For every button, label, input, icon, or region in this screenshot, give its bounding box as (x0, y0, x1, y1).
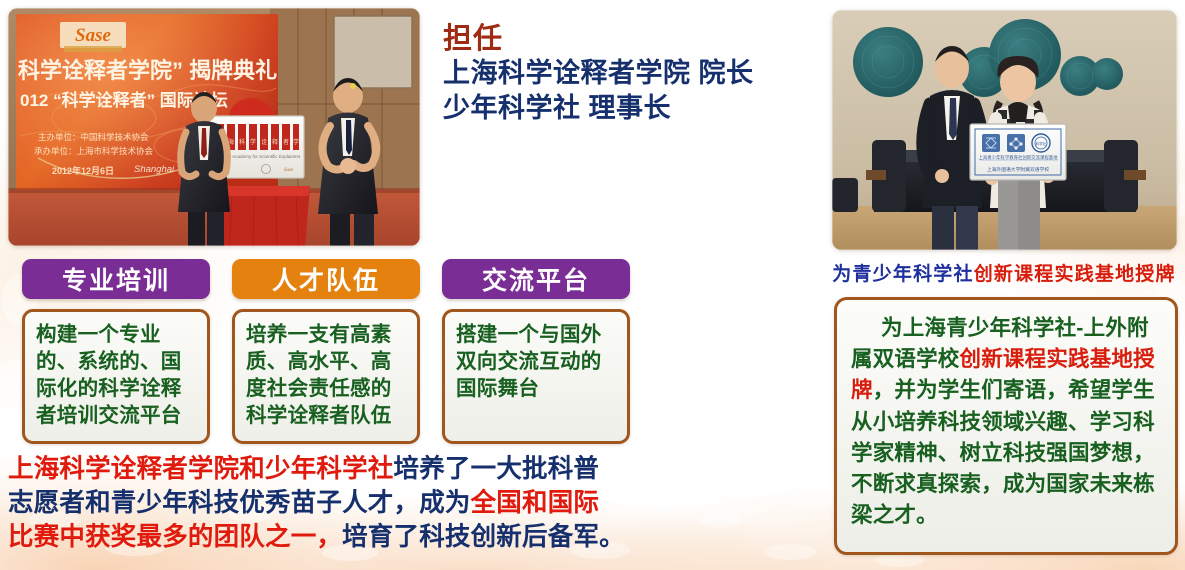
svg-text:主办单位：中国科学技术协会: 主办单位：中国科学技术协会 (38, 132, 149, 142)
card-row: 构建一个专业的、系统的、国际化的科学诠释者培训交流平台 培养一支有高素质、高水平… (22, 309, 630, 444)
right-text-seg3: ，并为学生们寄语，希望学生从小培养科技领域兴趣、学习科学家精神、树立科技强国梦想… (851, 378, 1155, 527)
badge-exchange-platform[interactable]: 交流平台 (442, 259, 630, 299)
card-exchange-platform: 搭建一个与国外双向交流互动的国际舞台 (442, 309, 630, 444)
svg-text:科学诠释者学院” 揭牌典礼: 科学诠释者学院” 揭牌典礼 (18, 58, 277, 83)
svg-text:Shanghai: Shanghai (134, 164, 175, 175)
summary-line3-blue: 培育了科技创新后备军。 (342, 523, 625, 551)
summary-line1-red: 上海科学诠释者学院和少年科学社 (8, 455, 394, 483)
svg-text:者: 者 (283, 139, 289, 146)
svg-text:Sase: Sase (75, 25, 111, 46)
svg-text:学: 学 (293, 138, 299, 146)
svg-text:学: 学 (250, 138, 256, 146)
svg-text:诠: 诠 (261, 138, 267, 146)
position-society: 少年科学社 理事长 (443, 91, 754, 126)
svg-text:上海青少年科学教育社创新交流课程基地: 上海青少年科学教育社创新交流课程基地 (978, 154, 1058, 161)
caption-red: 创新课程实践基地授牌 (974, 264, 1176, 285)
position-academy: 上海科学诠释者学院 院长 (443, 56, 754, 91)
badge-label: 交流平台 (482, 261, 590, 297)
card-text: 培养一支有高素质、高水平、高度社会责任感的科学诠释者队伍 (246, 321, 409, 429)
badge-professional-training[interactable]: 专业培训 (22, 259, 210, 299)
badge-row: 专业培训 人才队伍 交流平台 (22, 259, 630, 299)
svg-text:科学社: 科学社 (1036, 141, 1047, 146)
summary-line-2: 志愿者和青少年科技优秀苗子人才，成为全国和国际 (8, 486, 656, 520)
badge-talent-team[interactable]: 人才队伍 (232, 259, 420, 299)
summary-line3-red: 比赛中获奖最多的团队之一， (8, 523, 342, 551)
badge-label: 人才队伍 (272, 261, 380, 297)
card-text: 搭建一个与国外双向交流互动的国际舞台 (456, 321, 619, 402)
caption-blue: 为青少年科学社 (832, 264, 973, 285)
svg-text:释: 释 (272, 138, 278, 146)
summary-line-1: 上海科学诠释者学院和少年科学社培养了一大批科普 (8, 452, 656, 486)
photo-ceremony-image: Sase 科学诠释者学院” 揭牌典礼 012 “科学诠释者” 国际论坛 主办单位… (8, 8, 420, 246)
svg-text:科: 科 (239, 138, 245, 146)
right-photo-caption: 为青少年科学社创新课程实践基地授牌 (828, 259, 1180, 286)
svg-text:上海外国语大学附属双语学校: 上海外国语大学附属双语学校 (987, 166, 1050, 173)
photo-plaque-image: 科学社 上海青少年科学教育社创新交流课程基地 上海外国语大学附属双语学校 (832, 10, 1177, 250)
summary-line2-red: 全国和国际 (471, 489, 600, 517)
badge-label: 专业培训 (62, 261, 170, 297)
summary-line1-blue: 培养了一大批科普 (394, 455, 600, 483)
summary-line-3: 比赛中获奖最多的团队之一，培育了科技创新后备军。 (8, 520, 656, 554)
svg-text:承办单位：上海市科学技术协会: 承办单位：上海市科学技术协会 (34, 146, 154, 156)
headline-block: 担任 上海科学诠释者学院 院长 少年科学社 理事长 (443, 22, 754, 126)
card-talent-team: 培养一支有高素质、高水平、高度社会责任感的科学诠释者队伍 (232, 309, 420, 444)
right-description-box: 为上海青少年科学社-上外附属双语学校创新课程实践基地授牌，并为学生们寄语，希望学… (834, 297, 1178, 555)
card-professional-training: 构建一个专业的、系统的、国际化的科学诠释者培训交流平台 (22, 309, 210, 444)
svg-text:Sase: Sase (284, 168, 294, 173)
svg-text:2012年12月6日: 2012年12月6日 (52, 165, 114, 176)
summary-line2-blue: 志愿者和青少年科技优秀苗子人才，成为 (8, 489, 471, 517)
photo-plaque-handover: 科学社 上海青少年科学教育社创新交流课程基地 上海外国语大学附属双语学校 (832, 10, 1177, 250)
role-label: 担任 (443, 22, 754, 56)
summary-paragraph: 上海科学诠释者学院和少年科学社培养了一大批科普 志愿者和青少年科技优秀苗子人才，… (8, 452, 656, 554)
right-description-text: 为上海青少年科学社-上外附属双语学校创新课程实践基地授牌，并为学生们寄语，希望学… (851, 313, 1163, 531)
photo-ceremony: Sase 科学诠释者学院” 揭牌典礼 012 “科学诠释者” 国际论坛 主办单位… (8, 8, 420, 246)
card-text: 构建一个专业的、系统的、国际化的科学诠释者培训交流平台 (36, 321, 199, 429)
